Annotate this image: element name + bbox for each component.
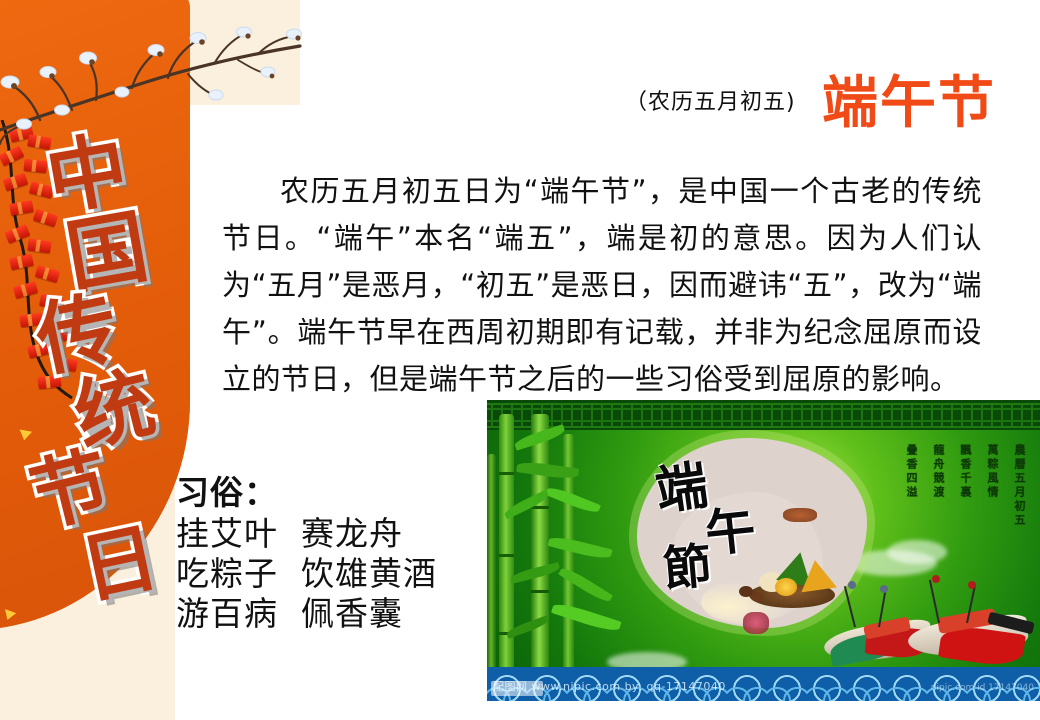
vertical-poem: 農曆五月初五 萬粽風情 飄香千裏 龍舟競渡 疊香四溢 — [904, 444, 1026, 528]
page-title: 端午节 — [822, 58, 996, 139]
bamboo-node — [499, 472, 514, 475]
fret-line — [487, 403, 1040, 405]
poem-column-4: 龍舟競渡 — [931, 444, 945, 528]
boat-antenna-ball — [932, 575, 940, 583]
banner-characters: 中 国 传 统 节 日 — [18, 110, 198, 655]
poem-column-2: 萬粽風情 — [985, 444, 999, 528]
boat-antenna-ball — [968, 581, 976, 589]
calligraphy-char-jie: 節 — [660, 526, 714, 600]
slide-canvas: 中 国 传 统 节 日 （农历五月初五) 端午节 农历五月初五日为“端午节”，是… — [0, 0, 1040, 720]
banner-char-6: 日 — [69, 495, 166, 618]
red-date — [751, 592, 764, 602]
bamboo-stalk — [531, 414, 549, 684]
customs-line-3: 游百病 佩香囊 — [176, 594, 496, 634]
poem-column-5: 疊香四溢 — [904, 444, 918, 528]
boat-antenna-ball — [880, 585, 888, 593]
body-paragraph: 农历五月初五日为“端午节”，是中国一个古老的传统节日。“端午”本名“端五”，端是… — [222, 168, 982, 403]
customs-line-2: 吃粽子 饮雄黄酒 — [176, 554, 496, 594]
seal-stamp-icon — [783, 508, 817, 522]
subtitle-lunar-date: （农历五月初五) — [625, 84, 796, 116]
egg-yolk — [775, 578, 797, 596]
bamboo-node — [499, 554, 514, 557]
bamboo-icon — [487, 414, 607, 684]
boat-antenna-ball — [848, 581, 856, 589]
poem-column-3: 飄香千裏 — [958, 444, 972, 528]
bamboo-stalk — [487, 454, 496, 684]
boat-antenna — [844, 586, 856, 627]
dragon-boat-festival-image: 端 午 節 農曆五月初五 萬粽風情 飄香千裏 龍舟競渡 疊香四溢 — [487, 400, 1040, 701]
customs-title: 习俗： — [176, 472, 496, 514]
sachet-knot-icon — [743, 612, 769, 634]
bamboo-leaf — [548, 534, 613, 561]
cloud — [887, 540, 947, 564]
poem-column-1: 農曆五月初五 — [1012, 444, 1026, 528]
customs-line-1: 挂艾叶 赛龙舟 — [176, 514, 496, 554]
watermark-right-text: nipic.com id 17147040 — [931, 683, 1034, 693]
customs-block: 习俗： 挂艾叶 赛龙舟 吃粽子 饮雄黄酒 游百病 佩香囊 — [176, 472, 496, 634]
watermark-text: 配图网 www.nipic.com by: qq-17147040 — [493, 678, 726, 694]
bamboo-node — [531, 590, 549, 593]
bamboo-stalk — [499, 414, 514, 684]
boat-antenna — [929, 580, 940, 623]
